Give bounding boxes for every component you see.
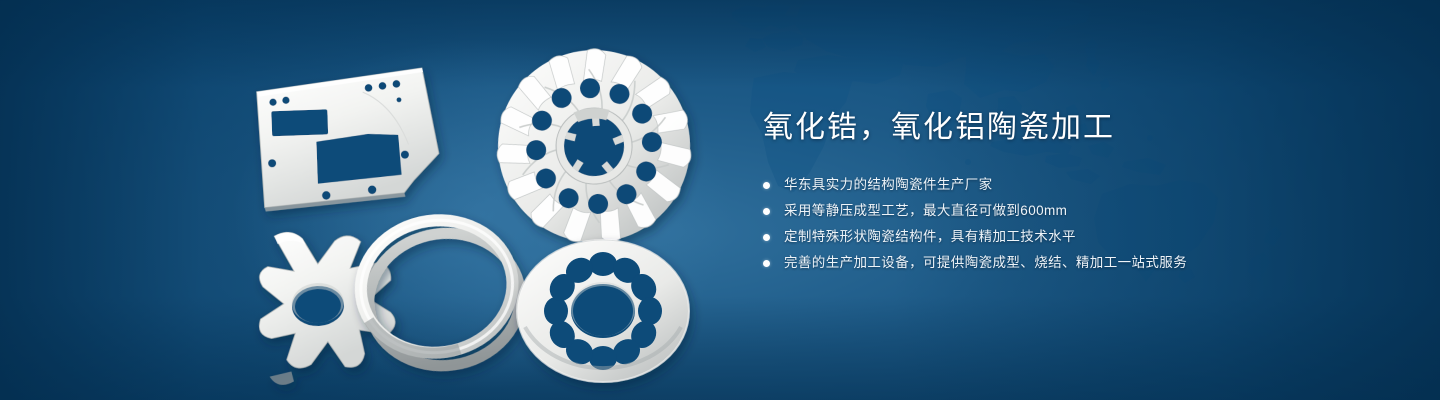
banner-copy: 氧化锆，氧化铝陶瓷加工 华东具实力的结构陶瓷件生产厂家 采用等静压成型工艺，最大… [763,108,1363,278]
list-item: 完善的生产加工设备，可提供陶瓷成型、烧结、精加工一站式服务 [763,252,1363,275]
feature-text: 采用等静压成型工艺，最大直径可做到600mm [784,203,1067,218]
feature-text: 华东具实力的结构陶瓷件生产厂家 [784,177,993,192]
page-title: 氧化锆，氧化铝陶瓷加工 [763,108,1363,148]
feature-text: 完善的生产加工设备，可提供陶瓷成型、烧结、精加工一站式服务 [784,255,1187,270]
bullet-dot-icon [763,208,770,215]
feature-list: 华东具实力的结构陶瓷件生产厂家 采用等静压成型工艺，最大直径可做到600mm 定… [763,174,1363,275]
bullet-dot-icon [763,182,770,189]
list-item: 采用等静压成型工艺，最大直径可做到600mm [763,200,1363,223]
list-item: 定制特殊形状陶瓷结构件，具有精加工技术水平 [763,226,1363,249]
ceramic-perforated-disc [517,240,689,382]
feature-text: 定制特殊形状陶瓷结构件，具有精加工技术水平 [784,229,1076,244]
bullet-dot-icon [763,260,770,267]
list-item: 华东具实力的结构陶瓷件生产厂家 [763,174,1363,197]
bullet-dot-icon [763,234,770,241]
hero-banner: 氧化锆，氧化铝陶瓷加工 华东具实力的结构陶瓷件生产厂家 采用等静压成型工艺，最大… [0,0,1440,400]
product-photo-cluster [232,34,732,384]
